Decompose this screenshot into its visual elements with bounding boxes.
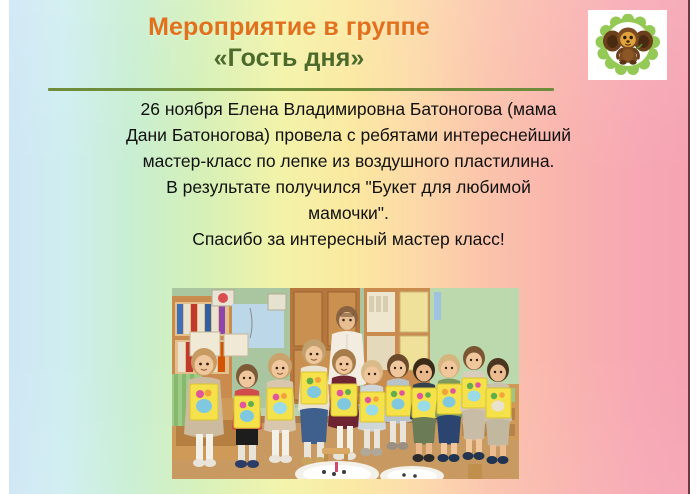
slide-title: Мероприятие в группе «Гость дня» (9, 12, 569, 74)
cheburashka-logo-icon (595, 14, 661, 76)
group-photo-illustration (172, 288, 519, 479)
body-line-6: Спасибо за интересный мастер класс! (9, 226, 688, 252)
body-line-2: Дани Батоногова) провела с ребятами инте… (9, 122, 688, 148)
body-line-4: В результате получился "Букет для любимо… (9, 174, 688, 200)
title-line-primary: Мероприятие в группе (9, 12, 569, 42)
slide-root: Мероприятие в группе «Гость дня» (0, 0, 700, 494)
title-divider (48, 88, 554, 91)
body-line-5: мамочки". (9, 200, 688, 226)
group-photo (172, 288, 519, 479)
slide-canvas: Мероприятие в группе «Гость дня» (9, 0, 690, 494)
body-line-1: 26 ноября Елена Владимировна Батоногова … (9, 96, 688, 122)
title-line-secondary: «Гость дня» (9, 42, 569, 74)
body-text: 26 ноября Елена Владимировна Батоногова … (9, 96, 688, 252)
body-line-3: мастер-класс по лепке из воздушного плас… (9, 148, 688, 174)
logo-frame (588, 10, 667, 80)
